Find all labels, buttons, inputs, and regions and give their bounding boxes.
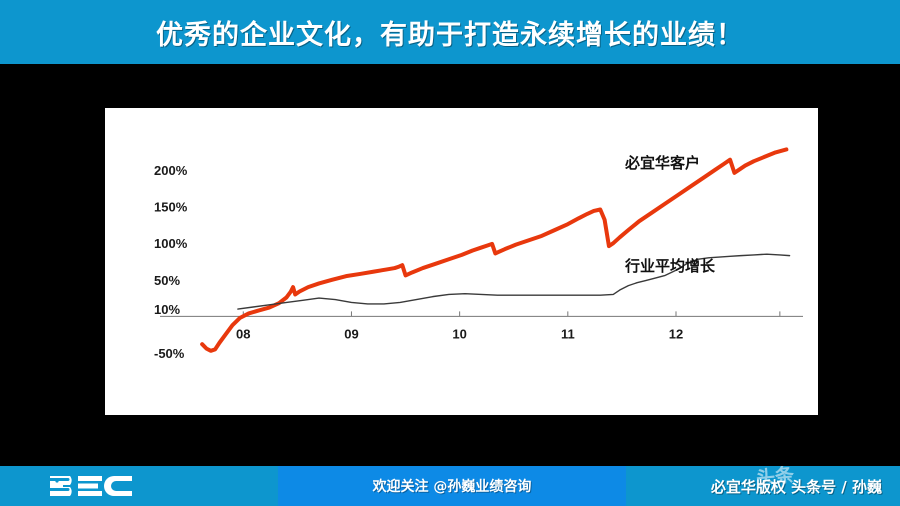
series-annotation-client: 必宜华客户 [624, 154, 700, 172]
slide-root: 优秀的企业文化，有助于打造永续增长的业绩！ 0809101112200%150%… [0, 0, 900, 506]
growth-line-chart: 0809101112200%150%100%50%10%-50%必宜华客户行业平… [105, 108, 818, 415]
y-axis-tick-label: 200% [154, 163, 188, 178]
bec-logo-icon [48, 473, 134, 499]
footer-right-text: 必宜华版权 头条号 / 孙巍 [711, 466, 882, 506]
y-axis-tick-label: 50% [154, 273, 180, 288]
x-axis-tick-label: 12 [669, 326, 683, 341]
footer-center-text: 欢迎关注 @孙巍业绩咨询 [278, 466, 626, 506]
x-axis-tick-label: 10 [452, 326, 466, 341]
y-axis-tick-label: 150% [154, 200, 188, 215]
bec-logo [48, 472, 134, 500]
page-title: 优秀的企业文化，有助于打造永续增长的业绩！ [156, 13, 744, 52]
y-axis-tick-label: 100% [154, 236, 188, 251]
chart-panel: 0809101112200%150%100%50%10%-50%必宜华客户行业平… [105, 108, 818, 415]
x-axis-tick-label: 08 [236, 326, 250, 341]
x-axis-tick-label: 11 [561, 326, 575, 341]
y-axis-tick-label: -50% [154, 346, 185, 361]
x-axis-tick-label: 09 [344, 326, 358, 341]
y-axis-tick-label: 10% [154, 302, 180, 317]
series-annotation-industry: 行业平均增长 [624, 257, 716, 275]
title-bar: 优秀的企业文化，有助于打造永续增长的业绩！ [0, 0, 900, 64]
series-line-client [202, 149, 786, 350]
